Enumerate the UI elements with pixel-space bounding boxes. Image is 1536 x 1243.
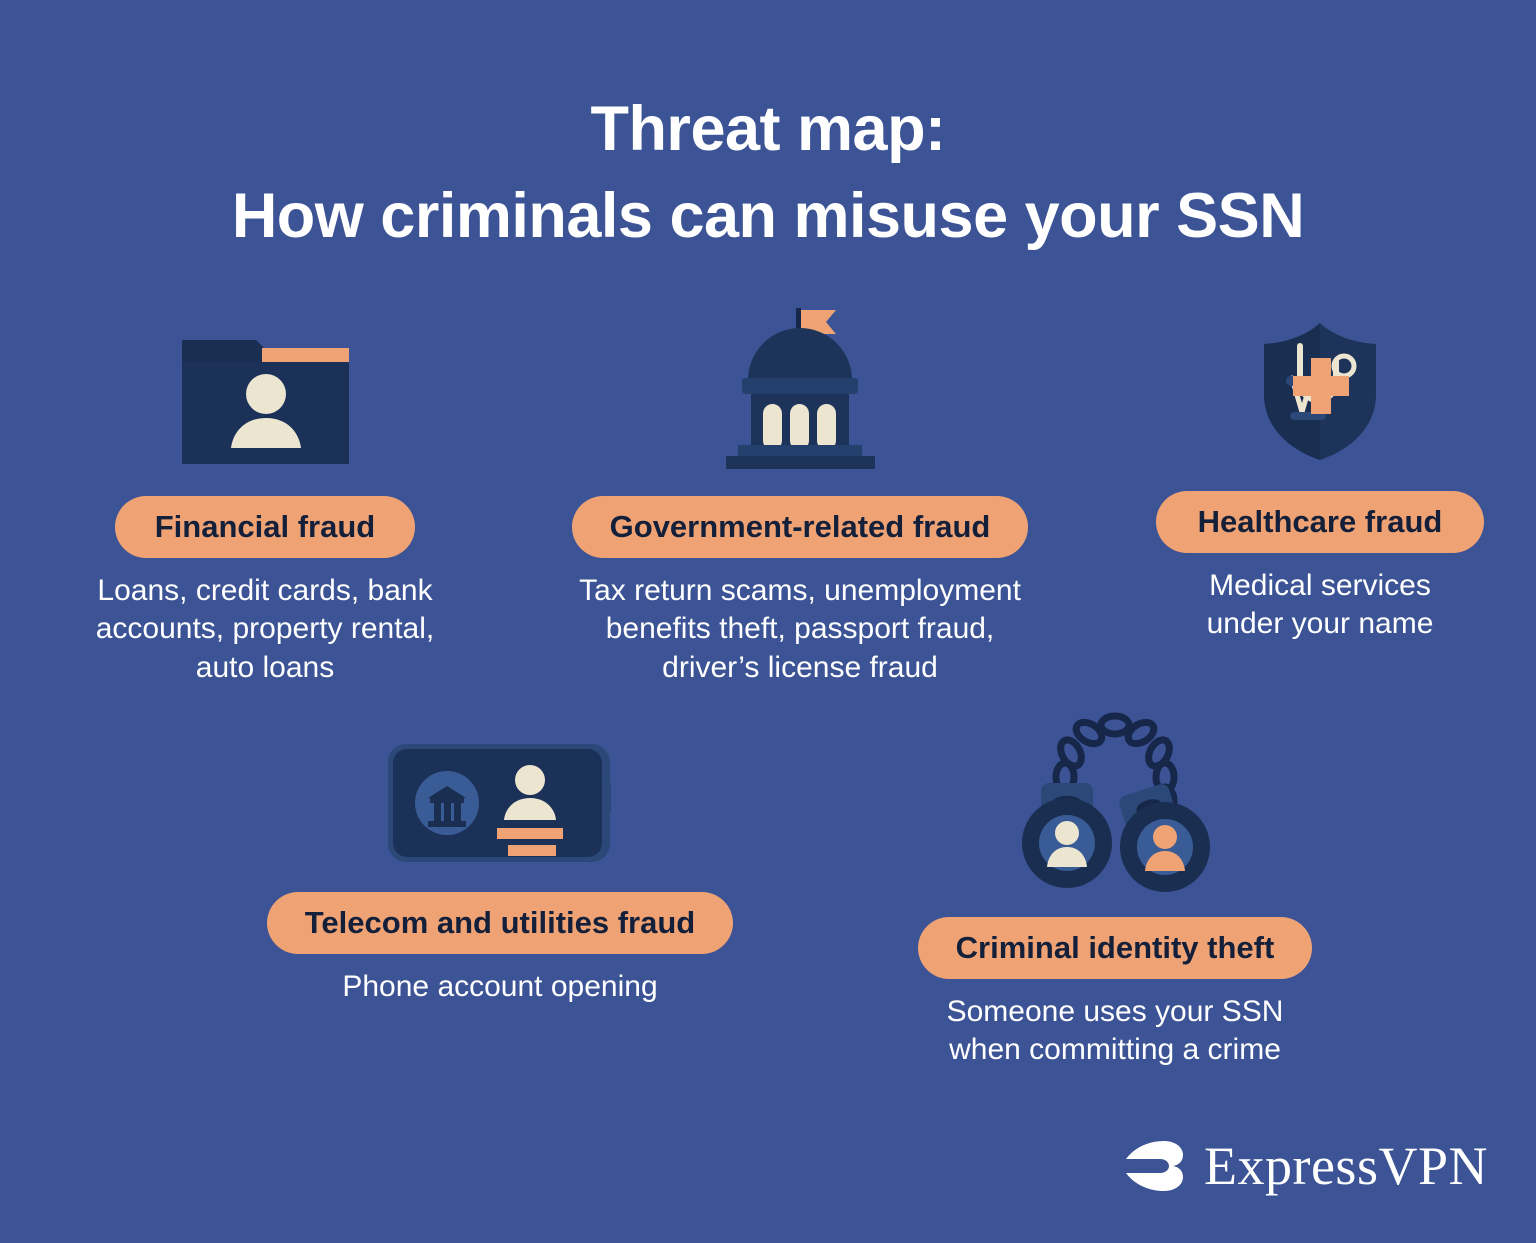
infographic-canvas: Threat map: How criminals can misuse you… <box>0 0 1536 1243</box>
card-healthcare-label: Healthcare fraud <box>1156 491 1485 553</box>
id-card-phone-icon <box>240 740 760 866</box>
card-government-fraud: Government-related fraud Tax return scam… <box>505 300 1095 687</box>
page-title: Threat map: How criminals can misuse you… <box>0 86 1536 260</box>
card-telecom-label: Telecom and utilities fraud <box>267 892 733 954</box>
card-healthcare-fraud: Healthcare fraud Medical services under … <box>1110 320 1530 644</box>
card-government-description: Tax return scams, unemployment benefits … <box>505 572 1095 687</box>
card-government-label: Government-related fraud <box>572 496 1029 558</box>
title-line-1: Threat map: <box>0 86 1536 173</box>
card-criminal-identity-theft: Criminal identity theft Someone uses you… <box>880 685 1350 1070</box>
expressvpn-e-logo-icon <box>1120 1133 1186 1199</box>
shield-stethoscope-cross-icon <box>1110 320 1530 463</box>
card-telecom-description: Phone account opening <box>240 968 760 1006</box>
card-financial-fraud: Financial fraud Loans, credit cards, ban… <box>35 336 495 687</box>
handcuffs-people-icon <box>880 685 1350 895</box>
folder-person-icon <box>35 336 495 468</box>
card-financial-description: Loans, credit cards, bank accounts, prop… <box>35 572 495 687</box>
card-financial-label: Financial fraud <box>115 496 415 558</box>
expressvpn-wordmark: ExpressVPN <box>1204 1139 1488 1193</box>
title-line-2: How criminals can misuse your SSN <box>0 173 1536 260</box>
capitol-building-icon <box>505 300 1095 470</box>
card-telecom-fraud: Telecom and utilities fraud Phone accoun… <box>240 740 760 1006</box>
card-criminal-description: Someone uses your SSN when committing a … <box>880 993 1350 1070</box>
card-criminal-label: Criminal identity theft <box>918 917 1313 979</box>
card-healthcare-description: Medical services under your name <box>1110 567 1530 644</box>
expressvpn-logo: ExpressVPN <box>1120 1133 1488 1199</box>
